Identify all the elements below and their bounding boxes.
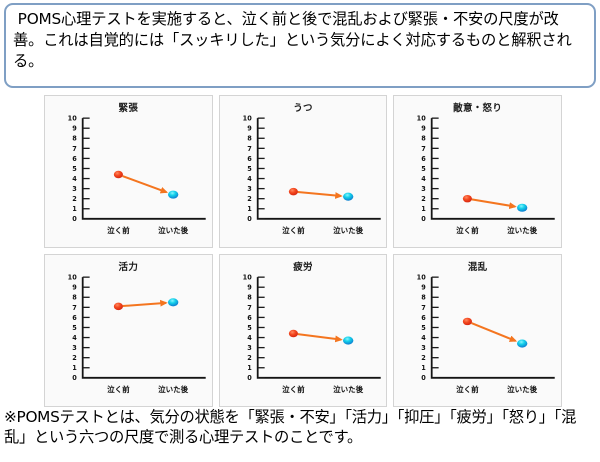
y-axis-tick-label: 8 [72,135,77,143]
data-point-before-crying [114,171,123,178]
footer-definition-text: ※POMSテストとは、気分の状態を「緊張・不安」「活力」「抑圧」「疲労」「怒り」… [4,407,598,447]
x-axis-category-label: 泣く前 [456,225,479,235]
y-axis-tick-label: 4 [422,175,427,183]
y-axis-tick-label: 9 [72,284,77,292]
y-axis-tick-label: 4 [72,334,77,342]
y-axis-tick-label: 5 [247,165,252,173]
y-axis-tick-label: 6 [72,314,77,322]
chart-plot-area: 109876543210泣く前泣いた後 [45,255,212,406]
y-axis-tick-label: 2 [72,195,77,203]
change-arrow-icon [123,303,166,306]
y-axis-tick-label: 5 [72,324,77,332]
y-axis-tick-label: 7 [422,145,427,153]
y-axis-tick-label: 6 [422,155,427,163]
y-axis-tick-label: 7 [247,145,252,153]
data-point-after-crying [343,337,353,345]
y-axis-tick-label: 8 [72,294,77,302]
y-axis-tick-label: 7 [72,145,77,153]
y-axis-tick-label: 10 [68,115,78,123]
y-axis-tick-label: 2 [247,195,252,203]
y-axis-tick-label: 2 [247,354,252,362]
y-axis-tick-label: 9 [72,125,77,133]
y-axis-tick-label: 1 [72,364,77,372]
y-axis-tick-label: 7 [247,304,252,312]
y-axis-tick-label: 5 [247,324,252,332]
x-axis-category-label: 泣く前 [456,384,479,394]
y-axis-tick-label: 4 [247,334,252,342]
data-point-after-crying [343,193,353,201]
data-point-before-crying [114,303,123,310]
x-axis-category-label: 泣いた後 [507,384,538,394]
change-arrow-icon [472,323,516,341]
y-axis-tick-label: 6 [247,314,252,322]
y-axis-tick-label: 8 [247,135,252,143]
y-axis-tick-label: 5 [422,324,427,332]
y-axis-tick-label: 3 [422,185,427,193]
change-arrow-icon [123,176,167,192]
data-point-before-crying [463,195,472,202]
x-axis-category-label: 泣く前 [282,384,305,394]
axis-lines [257,118,380,219]
x-axis-category-label: 泣いた後 [507,225,538,235]
y-axis-tick-label: 1 [72,205,77,213]
header-callout-box: POMS心理テストを実施すると、泣く前と後で混乱および緊張・不安の尺度が改善。こ… [4,3,596,88]
y-axis-tick-label: 0 [247,374,252,382]
y-axis-tick-label: 3 [72,344,77,352]
y-axis-tick-label: 2 [422,354,427,362]
data-point-before-crying [289,188,298,195]
y-axis-tick-label: 9 [422,125,427,133]
chart-panel: 混乱109876543210泣く前泣いた後 [393,254,562,407]
y-axis-tick-label: 9 [247,125,252,133]
x-axis-category-label: 泣いた後 [158,225,189,235]
y-axis-tick-label: 5 [422,165,427,173]
y-axis-tick-label: 1 [422,364,427,372]
y-axis-tick-label: 2 [72,354,77,362]
y-axis-tick-label: 8 [247,294,252,302]
change-arrow-icon [297,334,340,340]
y-axis-tick-label: 8 [422,294,427,302]
y-axis-tick-label: 5 [72,165,77,173]
y-axis-tick-label: 1 [422,205,427,213]
y-axis-tick-label: 1 [247,205,252,213]
y-axis-tick-label: 10 [242,274,252,282]
y-axis-tick-label: 4 [422,334,427,342]
x-axis-category-label: 泣いた後 [333,225,364,235]
y-axis-tick-label: 10 [417,274,427,282]
chart-plot-area: 109876543210泣く前泣いた後 [394,255,561,406]
chart-panel: 敵意・怒り109876543210泣く前泣いた後 [393,95,562,248]
y-axis-tick-label: 0 [422,215,427,223]
poms-charts-grid: 緊張109876543210泣く前泣いた後うつ109876543210泣く前泣い… [44,95,562,407]
y-axis-tick-label: 7 [422,304,427,312]
chart-plot-area: 109876543210泣く前泣いた後 [220,96,387,247]
chart-panel: うつ109876543210泣く前泣いた後 [219,95,388,248]
data-point-after-crying [168,298,178,306]
y-axis-tick-label: 6 [247,155,252,163]
y-axis-tick-label: 6 [422,314,427,322]
data-point-before-crying [463,318,472,325]
x-axis-category-label: 泣く前 [107,225,130,235]
y-axis-tick-label: 3 [247,185,252,193]
y-axis-tick-label: 4 [247,175,252,183]
axis-lines [83,118,206,219]
y-axis-tick-label: 10 [68,274,78,282]
y-axis-tick-label: 4 [72,175,77,183]
change-arrow-icon [472,199,515,206]
y-axis-tick-label: 10 [417,115,427,123]
y-axis-tick-label: 0 [422,374,427,382]
y-axis-tick-label: 0 [72,215,77,223]
header-summary-text: POMS心理テストを実施すると、泣く前と後で混乱および緊張・不安の尺度が改善。こ… [13,9,587,72]
y-axis-tick-label: 9 [422,284,427,292]
axis-lines [83,277,206,378]
y-axis-tick-label: 0 [72,374,77,382]
y-axis-tick-label: 3 [422,344,427,352]
y-axis-tick-label: 9 [247,284,252,292]
chart-plot-area: 109876543210泣く前泣いた後 [394,96,561,247]
change-arrow-icon [297,192,340,196]
data-point-after-crying [168,191,178,199]
y-axis-tick-label: 3 [72,185,77,193]
x-axis-category-label: 泣いた後 [158,384,189,394]
axis-lines [257,277,380,378]
data-point-before-crying [289,330,298,337]
y-axis-tick-label: 2 [422,195,427,203]
y-axis-tick-label: 7 [72,304,77,312]
x-axis-category-label: 泣く前 [282,225,305,235]
chart-plot-area: 109876543210泣く前泣いた後 [45,96,212,247]
y-axis-tick-label: 8 [422,135,427,143]
y-axis-tick-label: 10 [242,115,252,123]
axis-lines [432,277,555,378]
data-point-after-crying [517,204,527,212]
chart-panel: 活力109876543210泣く前泣いた後 [44,254,213,407]
data-point-after-crying [517,340,527,348]
y-axis-tick-label: 3 [247,344,252,352]
x-axis-category-label: 泣いた後 [333,384,364,394]
y-axis-tick-label: 0 [247,215,252,223]
chart-plot-area: 109876543210泣く前泣いた後 [220,255,387,406]
chart-panel: 緊張109876543210泣く前泣いた後 [44,95,213,248]
y-axis-tick-label: 1 [247,364,252,372]
y-axis-tick-label: 6 [72,155,77,163]
x-axis-category-label: 泣く前 [107,384,130,394]
chart-panel: 疲労109876543210泣く前泣いた後 [219,254,388,407]
